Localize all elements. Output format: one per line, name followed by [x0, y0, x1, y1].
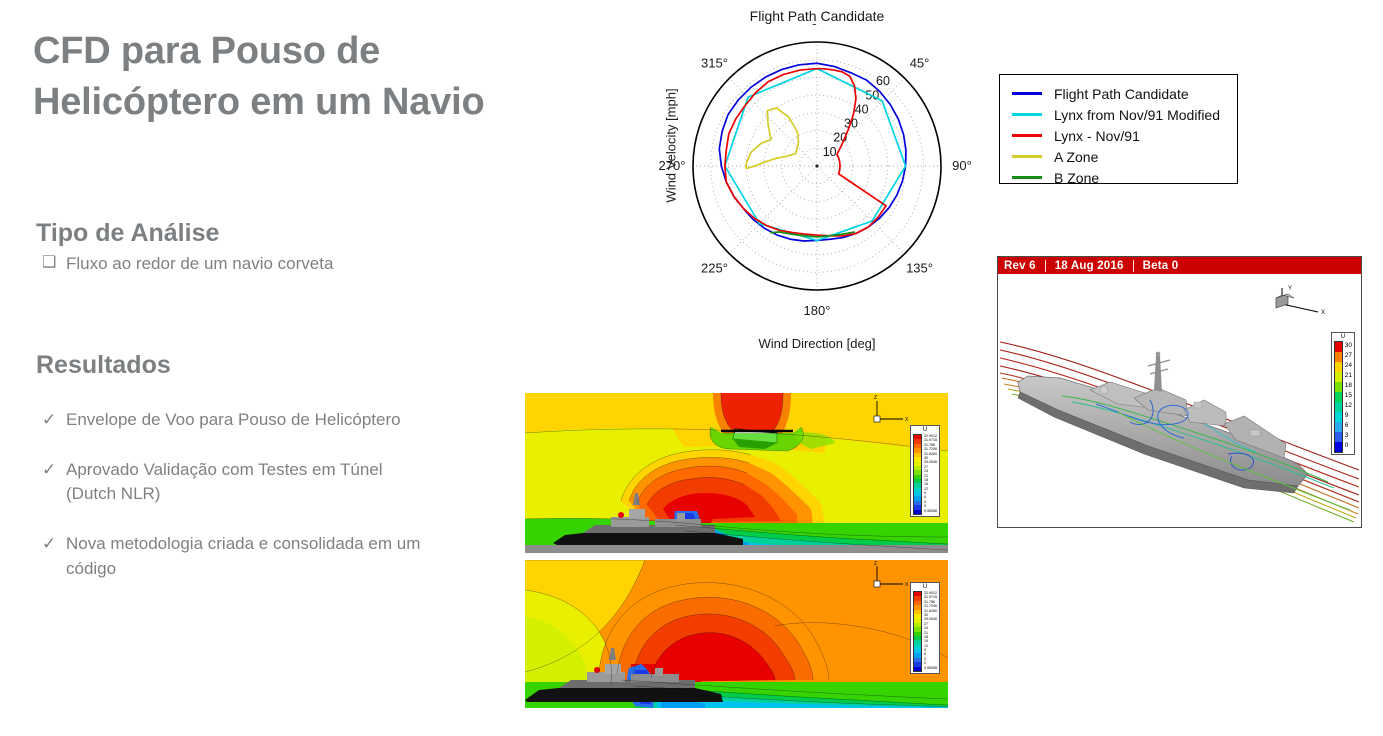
polar-theta-tick: 45°: [910, 55, 930, 70]
svg-text:Y: Y: [1288, 286, 1292, 292]
polar-series-lynx-nov-91: [725, 69, 886, 236]
polar-r-tick: 40: [855, 102, 869, 116]
banner-rev: Rev 6: [1004, 260, 1036, 272]
check-icon: ✓: [36, 532, 66, 556]
section-tipo-de-analise: Tipo de Análise ❑ Fluxo ao redor de um n…: [36, 218, 436, 278]
legend-item: A Zone: [1000, 146, 1237, 167]
legend-label: Lynx from Nov/91 Modified: [1054, 107, 1220, 123]
color-scale-bar: [1334, 341, 1343, 453]
list-item: ✓ Nova metodologia criada e consolidada …: [36, 532, 436, 580]
color-swatch: [1335, 412, 1342, 422]
banner-beta: Beta 0: [1143, 260, 1179, 272]
color-swatch: [1335, 392, 1342, 402]
polar-grid-spoke: [729, 78, 817, 166]
color-scale-legend: U 32.901231.971531.78631.720631.62603029…: [910, 582, 940, 674]
color-scale-value: 3: [1345, 431, 1352, 441]
legend-swatch-lynx-modified: [1012, 113, 1042, 115]
section-heading-tipo: Tipo de Análise: [36, 218, 436, 248]
polar-theta-tick: 225°: [701, 261, 728, 276]
cfd-contour-panel-top: Z X U 32.901231.971531.78631.720631.6260…: [525, 393, 948, 553]
color-scale-title: U: [1341, 334, 1345, 341]
check-icon: ✓: [36, 408, 66, 432]
cfd-contour-top-render: Z X: [525, 393, 948, 553]
check-icon: ✓: [36, 458, 66, 482]
color-swatch: [1335, 432, 1342, 442]
list-item-label: Aprovado Validação com Testes em Túnel (…: [66, 458, 436, 506]
color-scale-legend: U 302724211815129630: [1331, 332, 1355, 455]
color-scale-title: U: [923, 427, 927, 434]
legend-swatch-lynx-nov91: [1012, 134, 1042, 136]
polar-theta-tick: 90°: [952, 158, 972, 173]
color-scale-title: U: [923, 584, 927, 591]
color-scale-labels: 302724211815129630: [1345, 341, 1352, 453]
polar-r-tick: 60: [876, 74, 890, 88]
title-line-2: Helicóptero em um Navio: [33, 77, 633, 128]
legend-swatch-a-zone: [1012, 155, 1042, 157]
polar-theta-tick: 315°: [701, 55, 728, 70]
legend-item: B Zone: [1000, 167, 1237, 188]
polar-origin: [815, 164, 818, 167]
legend-item: Flight Path Candidate: [1000, 83, 1237, 104]
color-swatch: [1335, 342, 1342, 352]
list-item-label: Nova metodologia criada e consolidada em…: [66, 532, 436, 580]
square-bullet-icon: ❑: [36, 252, 66, 275]
color-scale-value: 24: [1345, 361, 1352, 371]
polar-plot-area: 0°45°90°135°180°225°270°315°102030405060: [652, 24, 982, 336]
chart-xlabel: Wind Direction [deg]: [652, 336, 982, 351]
banner-separator-icon: [1133, 260, 1134, 272]
axis-triad-icon: Y X: [1276, 286, 1325, 316]
page-title: CFD para Pouso de Helicóptero em um Navi…: [33, 26, 633, 127]
legend-swatch-flight-path-candidate: [1012, 92, 1042, 94]
banner-date: 18 Aug 2016: [1055, 260, 1124, 272]
color-scale-value: 12: [1345, 401, 1352, 411]
legend-label: A Zone: [1054, 149, 1098, 165]
color-swatch: [1335, 362, 1342, 372]
color-scale-bar: [913, 591, 922, 672]
legend-label: Lynx - Nov/91: [1054, 128, 1140, 144]
title-line-1: CFD para Pouso de: [33, 26, 633, 77]
svg-text:X: X: [1321, 310, 1325, 316]
legend-swatch-b-zone: [1012, 176, 1042, 178]
color-swatch: [914, 510, 921, 514]
polar-series-a-zone: [746, 108, 798, 169]
legend-item: Lynx - Nov/91: [1000, 125, 1237, 146]
polar-grid-spoke: [817, 166, 905, 254]
color-swatch: [914, 667, 921, 671]
color-scale-value: 21: [1345, 371, 1352, 381]
color-scale-value: 18: [1345, 381, 1352, 391]
section-heading-resultados: Resultados: [36, 350, 436, 380]
chart-title: Flight Path Candidate: [652, 8, 982, 24]
list-item-label: Fluxo ao redor de um navio corveta: [66, 252, 436, 276]
ship-panel-banner: Rev 6 18 Aug 2016 Beta 0: [998, 257, 1361, 274]
polar-theta-tick: 270°: [659, 158, 686, 173]
polar-r-tick: 10: [823, 145, 837, 159]
polar-theta-tick: 180°: [804, 303, 831, 318]
svg-text:Z: Z: [874, 395, 877, 401]
list-item: ✓ Envelope de Voo para Pouso de Helicópt…: [36, 408, 436, 432]
chart-legend: Flight Path Candidate Lynx from Nov/91 M…: [999, 74, 1238, 184]
color-scale-value: 27: [1345, 351, 1352, 361]
legend-label: Flight Path Candidate: [1054, 86, 1189, 102]
polar-theta-tick: 135°: [906, 261, 933, 276]
polar-chart: Flight Path Candidate Wind Velocity [mph…: [652, 8, 982, 360]
list-item: ❑ Fluxo ao redor de um navio corveta: [36, 252, 436, 276]
color-swatch: [1335, 442, 1342, 452]
color-scale-value: 0: [1345, 441, 1352, 451]
slide-root: CFD para Pouso de Helicóptero em um Navi…: [0, 0, 1383, 736]
color-swatch: [1335, 402, 1342, 412]
color-scale-value: 6: [1345, 421, 1352, 431]
color-swatch: [1335, 382, 1342, 392]
color-scale-legend: U 32.901231.971531.78631.720631.62603029…: [910, 425, 940, 517]
color-scale-labels: 32.901231.971531.78631.720631.62603029.0…: [924, 591, 937, 672]
list-item: ✓ Aprovado Validação com Testes em Túnel…: [36, 458, 436, 506]
ship-3d-panel: Rev 6 18 Aug 2016 Beta 0: [997, 256, 1362, 528]
banner-separator-icon: [1045, 260, 1046, 272]
color-swatch: [1335, 422, 1342, 432]
list-item-label: Envelope de Voo para Pouso de Helicópter…: [66, 408, 436, 432]
color-scale-value: 9: [1345, 411, 1352, 421]
legend-label: B Zone: [1054, 170, 1099, 186]
svg-text:Z: Z: [874, 561, 877, 567]
polar-theta-tick: 0°: [811, 24, 823, 28]
color-scale-value: 0.95058: [924, 666, 937, 670]
ship-3d-canvas: Y X U 302724211815129630: [998, 274, 1361, 527]
color-scale-value: 0.95058: [924, 509, 937, 513]
color-scale-value: 15: [1345, 391, 1352, 401]
color-scale-value: 30: [1345, 341, 1352, 351]
cfd-contour-panel-bottom: Z X U 32.901231.971531.78631.720631.6260…: [525, 560, 948, 708]
legend-item: Lynx from Nov/91 Modified: [1000, 104, 1237, 125]
color-scale-bar: [913, 434, 922, 515]
section-resultados: Resultados ✓ Envelope de Voo para Pouso …: [36, 350, 436, 607]
color-swatch: [1335, 352, 1342, 362]
results-list: ✓ Envelope de Voo para Pouso de Helicópt…: [36, 408, 436, 581]
ship-3d-render: Y X: [998, 274, 1361, 527]
color-swatch: [1335, 372, 1342, 382]
cfd-contour-bottom-render: Z X: [525, 560, 948, 708]
color-scale-labels: 32.901231.971531.78631.720631.62603029.0…: [924, 434, 937, 515]
